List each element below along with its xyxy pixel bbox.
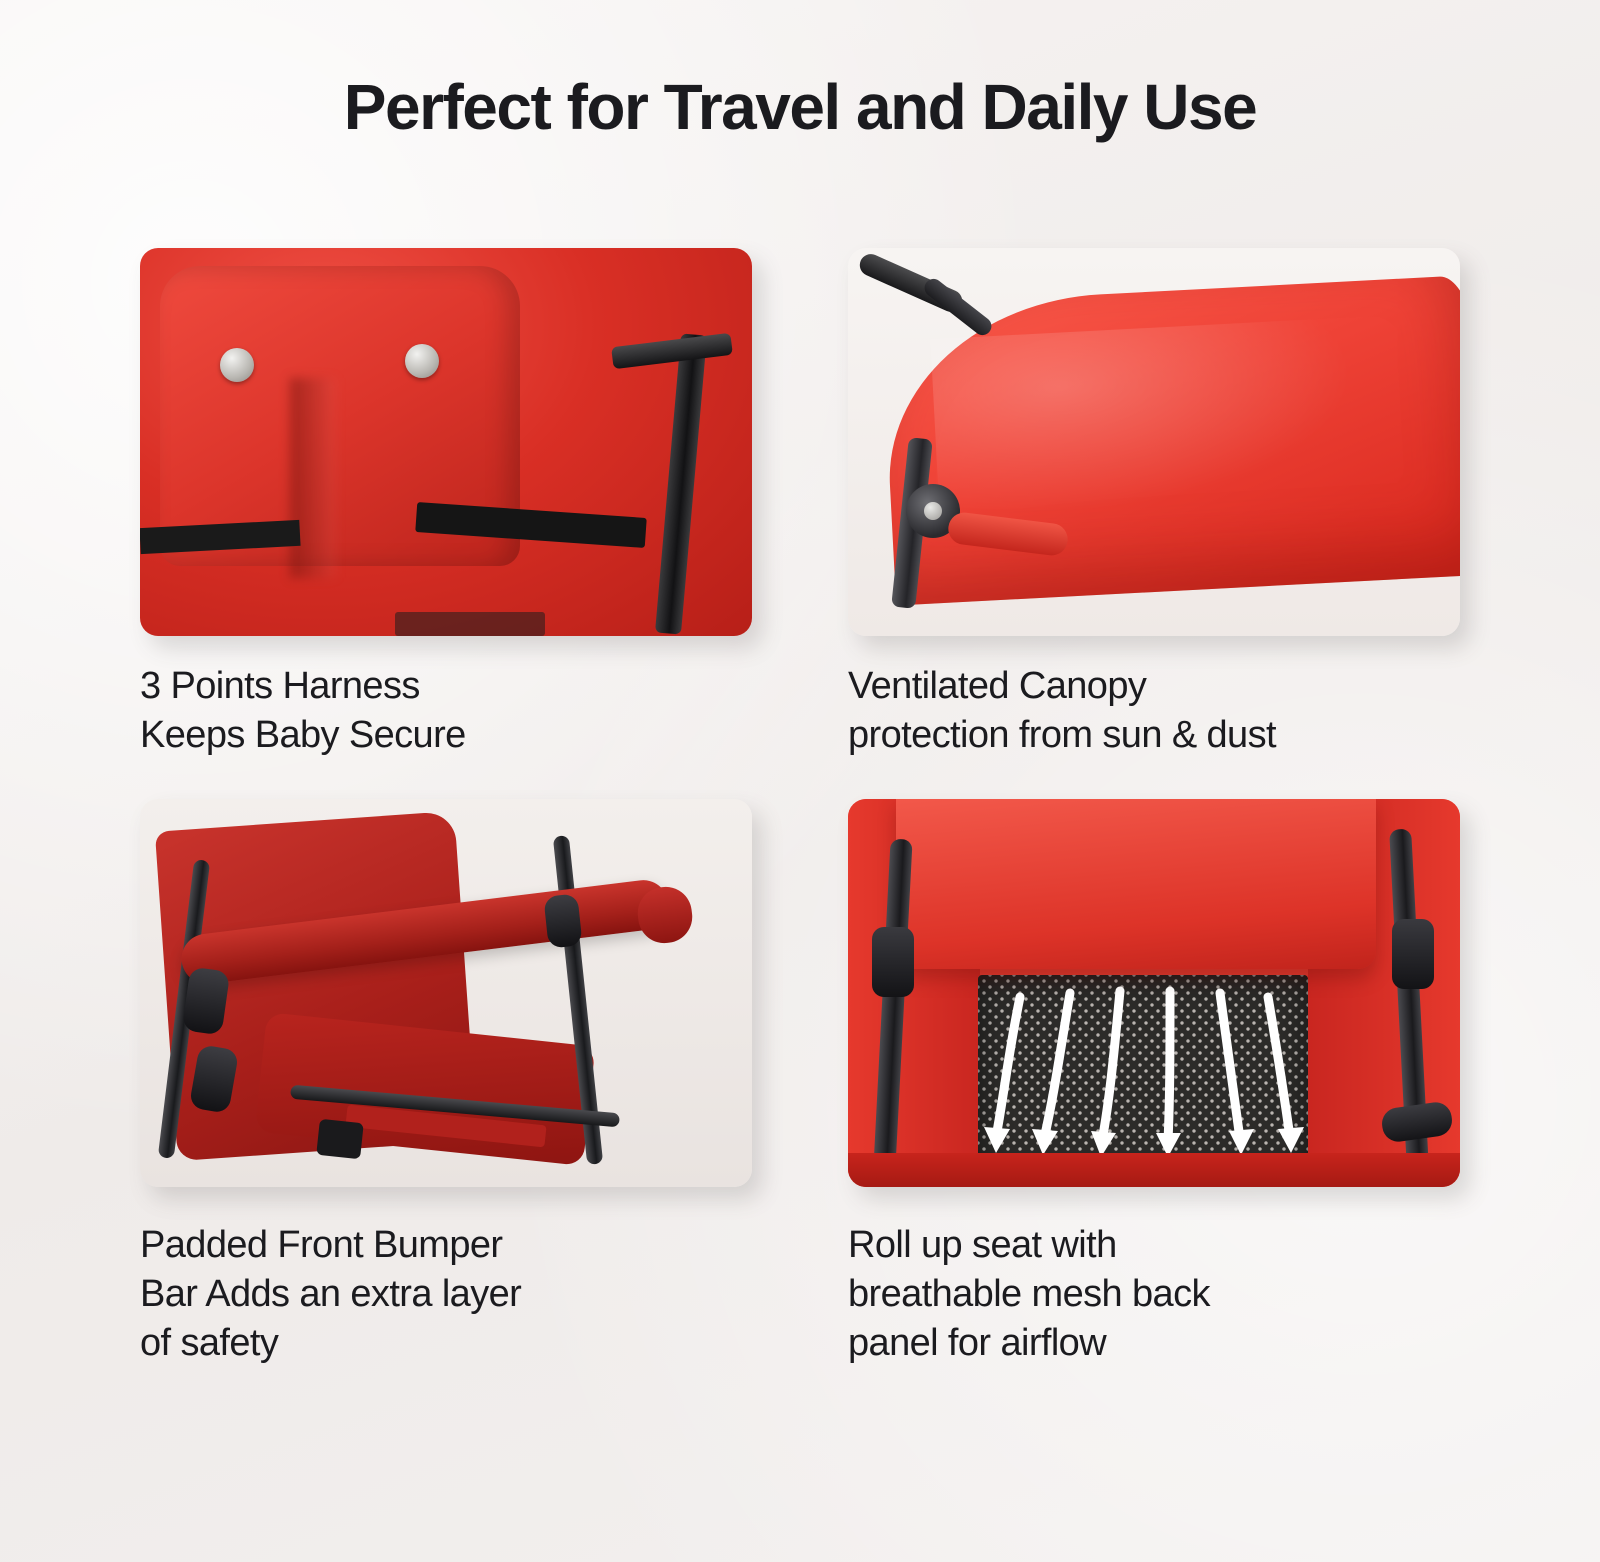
fabric-label-shape bbox=[395, 612, 545, 636]
frame-tube-vertical-shape bbox=[655, 333, 707, 634]
page-title: Perfect for Travel and Daily Use bbox=[0, 70, 1600, 144]
feature-caption-mesh-panel: Roll up seat with breathable mesh back p… bbox=[848, 1221, 1460, 1367]
snap-button-right-icon bbox=[405, 344, 439, 378]
feature-infographic: Perfect for Travel and Daily Use 3 Point… bbox=[0, 0, 1600, 1562]
fabric-fold-shape bbox=[290, 378, 336, 578]
feature-card-bumper-bar: Padded Front Bumper Bar Adds an extra la… bbox=[140, 799, 752, 1367]
feature-card-canopy: Ventilated Canopy protection from sun & … bbox=[848, 248, 1460, 759]
rolled-seat-flap-shape bbox=[896, 799, 1376, 969]
buckle-icon bbox=[316, 1119, 364, 1159]
bumper-bar-photo bbox=[140, 799, 752, 1187]
feature-card-harness: 3 Points Harness Keeps Baby Secure bbox=[140, 248, 752, 759]
airflow-arrows-icon bbox=[978, 975, 1308, 1175]
canopy-photo bbox=[848, 248, 1460, 636]
frame-clip-right-shape bbox=[1392, 919, 1434, 989]
feature-card-mesh-panel: Roll up seat with breathable mesh back p… bbox=[848, 799, 1460, 1367]
frame-tube-horizontal-shape bbox=[611, 333, 733, 369]
handle-tube-secondary-shape bbox=[921, 275, 995, 338]
frame-joint-right-shape bbox=[543, 894, 582, 949]
mesh-panel-photo bbox=[848, 799, 1460, 1187]
feature-caption-canopy: Ventilated Canopy protection from sun & … bbox=[848, 662, 1460, 759]
seat-hem-shape bbox=[848, 1153, 1460, 1187]
feature-caption-bumper-bar: Padded Front Bumper Bar Adds an extra la… bbox=[140, 1221, 752, 1367]
snap-button-left-icon bbox=[220, 348, 254, 382]
feature-caption-harness: 3 Points Harness Keeps Baby Secure bbox=[140, 662, 752, 759]
feature-grid: 3 Points Harness Keeps Baby Secure Venti… bbox=[140, 248, 1460, 1367]
harness-photo bbox=[140, 248, 752, 636]
frame-clip-left-shape bbox=[872, 927, 914, 997]
